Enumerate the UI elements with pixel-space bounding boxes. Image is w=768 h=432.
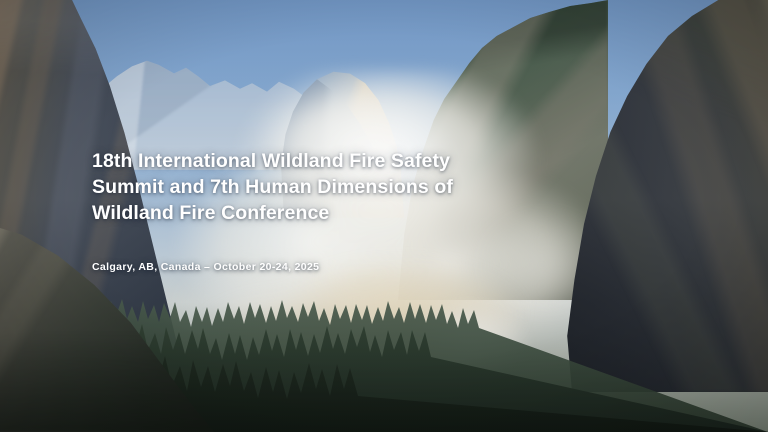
page-title: 18th International Wildland Fire Safety …	[92, 148, 512, 226]
event-location-dates: Calgary, AB, Canada – October 20-24, 202…	[92, 261, 319, 273]
hero-banner: 18th International Wildland Fire Safety …	[0, 0, 768, 432]
headline-block: 18th International Wildland Fire Safety …	[92, 148, 512, 226]
